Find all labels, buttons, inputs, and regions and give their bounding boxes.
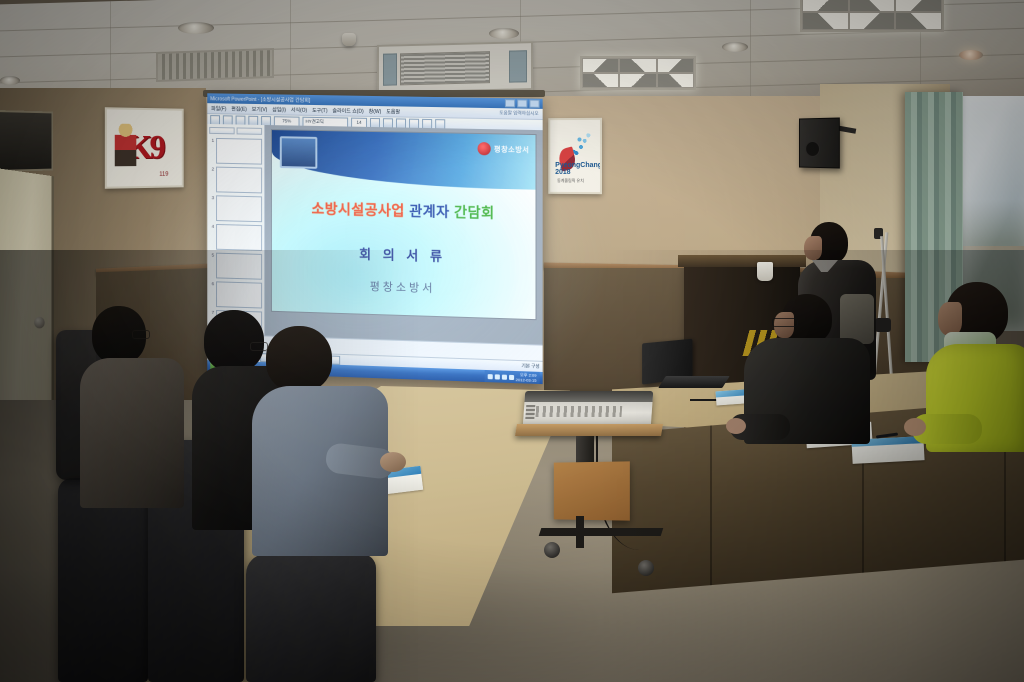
slide-logo: 평창소방서 xyxy=(478,142,530,156)
slide-thumbnail[interactable]: 6 xyxy=(209,281,262,308)
caster-wheel xyxy=(544,542,560,558)
slide-organization: 평창소방서 xyxy=(272,275,536,299)
caster-wheel xyxy=(638,560,654,576)
minimize-icon[interactable] xyxy=(505,99,515,107)
slide-thumbnail[interactable]: 3 xyxy=(209,195,262,222)
door-knob-icon[interactable] xyxy=(34,317,44,329)
downlight-icon xyxy=(489,28,519,39)
office-chair[interactable] xyxy=(246,554,376,682)
tray-icon[interactable] xyxy=(509,374,514,379)
lectern-top xyxy=(678,255,806,267)
speaker-cone-icon xyxy=(805,141,820,157)
torso xyxy=(80,358,184,508)
menu-item-file[interactable]: 파일(F) xyxy=(211,105,226,112)
glasses-icon xyxy=(132,330,150,339)
projector xyxy=(523,391,654,427)
menu-item-edit[interactable]: 편집(E) xyxy=(231,105,247,112)
poster-k9-caption: 119 xyxy=(159,172,168,178)
poster-k9: K9 119 xyxy=(105,107,184,189)
hand xyxy=(904,418,926,436)
slide-logo-text: 평창소방서 xyxy=(494,144,529,155)
menu-item-format[interactable]: 서식(O) xyxy=(291,106,307,113)
menu-item-window[interactable]: 창(W) xyxy=(369,107,382,114)
mascot-icon xyxy=(115,124,137,167)
downlight-icon xyxy=(0,76,20,85)
person-attendee-left-1 xyxy=(76,306,188,506)
menu-item-help[interactable]: 도움말 xyxy=(386,108,400,115)
slide-number: 3 xyxy=(209,195,214,200)
slide-thumbnail[interactable]: 4 xyxy=(209,224,262,251)
clock-date: 2012-03-15 xyxy=(516,377,537,383)
grid-ceiling-light xyxy=(800,0,944,32)
wall-speaker xyxy=(799,117,840,168)
menu-item-view[interactable]: 보기(V) xyxy=(252,105,268,112)
door-transom-window xyxy=(0,110,53,172)
slide-title: 소방시설공사업 관계자 간담회 xyxy=(272,198,536,224)
meeting-room-photo: K9 119 PyeongChang 2018 동계올림픽 유치 Microso… xyxy=(0,0,1024,682)
downlight-icon xyxy=(722,42,748,52)
projector-ports xyxy=(535,406,622,417)
tray-icon[interactable] xyxy=(494,374,499,379)
tab-outline[interactable] xyxy=(209,127,234,134)
taskbar-clock[interactable]: 오후 2:09 2012-03-15 xyxy=(516,372,537,383)
slide-number: 2 xyxy=(209,166,214,171)
poster-pyeongchang-2018: PyeongChang 2018 동계올림픽 유치 xyxy=(548,118,602,194)
slide-title-part-3: 간담회 xyxy=(454,204,495,221)
ceiling-air-conditioner xyxy=(377,41,533,94)
powerpoint-window-title: Microsoft PowerPoint - [소방시설공사업 간담회] xyxy=(210,95,310,104)
slide-subtitle: 회 의 서 류 xyxy=(272,241,536,267)
slide-thumbnail[interactable]: 5 xyxy=(209,252,262,279)
smoke-detector-icon xyxy=(342,33,356,46)
paper-cup xyxy=(757,262,773,281)
computer-illustration-icon xyxy=(280,136,318,169)
slide-number: 1 xyxy=(209,138,214,143)
slide-title-part-2: 관계자 xyxy=(409,203,449,220)
downlight-icon xyxy=(959,50,983,60)
ceiling-vent-icon xyxy=(156,48,274,82)
person-attendee-right-2 xyxy=(916,282,1024,452)
thumbnail-tabs[interactable] xyxy=(209,127,262,135)
help-search-hint[interactable]: 도움말 입력하십시오 xyxy=(499,110,538,117)
person-attendee-left-3 xyxy=(252,326,394,556)
tab-slides[interactable] xyxy=(237,127,263,134)
system-tray[interactable]: 오후 2:09 2012-03-15 xyxy=(484,370,539,384)
face xyxy=(938,302,962,336)
grid-ceiling-light xyxy=(580,56,696,90)
projector-cart-lower-shelf xyxy=(554,461,630,520)
slide-number: 4 xyxy=(209,224,214,229)
slide-number: 5 xyxy=(209,252,214,257)
window-controls[interactable] xyxy=(505,99,540,108)
maximize-icon[interactable] xyxy=(517,99,527,107)
menu-item-insert[interactable]: 삽입(I) xyxy=(272,106,286,113)
head xyxy=(266,326,332,392)
glasses-icon xyxy=(772,318,798,327)
tray-icon[interactable] xyxy=(487,374,492,379)
projector-shelf xyxy=(515,424,663,436)
menu-item-tools[interactable]: 도구(T) xyxy=(312,106,327,113)
current-slide[interactable]: 평창소방서 소방시설공사업 관계자 간담회 회 의 서 류 평창소방서 xyxy=(271,129,537,320)
hand xyxy=(726,418,746,434)
slide-title-part-1: 소방시설공사업 xyxy=(312,201,405,219)
slide-thumbnail[interactable]: 1 xyxy=(209,138,262,165)
close-icon[interactable] xyxy=(529,100,539,108)
menu-item-slideshow[interactable]: 슬라이드 쇼(D) xyxy=(332,107,363,115)
projector-cart-base xyxy=(539,528,664,536)
slide-number: 6 xyxy=(209,281,214,286)
office-chair[interactable] xyxy=(58,478,148,682)
slide-editing-area[interactable]: 평창소방서 소방시설공사업 관계자 간담회 회 의 서 류 평창소방서 xyxy=(265,125,543,350)
status-text: 기본 구성 xyxy=(521,363,539,370)
person-attendee-right-1 xyxy=(738,294,870,444)
tray-icon[interactable] xyxy=(501,374,506,379)
downlight-icon xyxy=(178,22,214,34)
face xyxy=(804,236,822,260)
poster-pyeongchang-subtitle: 동계올림픽 유치 xyxy=(557,178,584,184)
poster-pyeongchang-title: PyeongChang 2018 xyxy=(555,162,602,176)
slide-thumbnail-pane[interactable]: 1 2 3 4 5 6 7 xyxy=(207,124,265,340)
projector-vent xyxy=(525,405,535,419)
fire-service-logo-icon xyxy=(478,142,491,155)
hands-clasped xyxy=(380,452,406,472)
slide-thumbnail[interactable]: 2 xyxy=(209,166,262,193)
